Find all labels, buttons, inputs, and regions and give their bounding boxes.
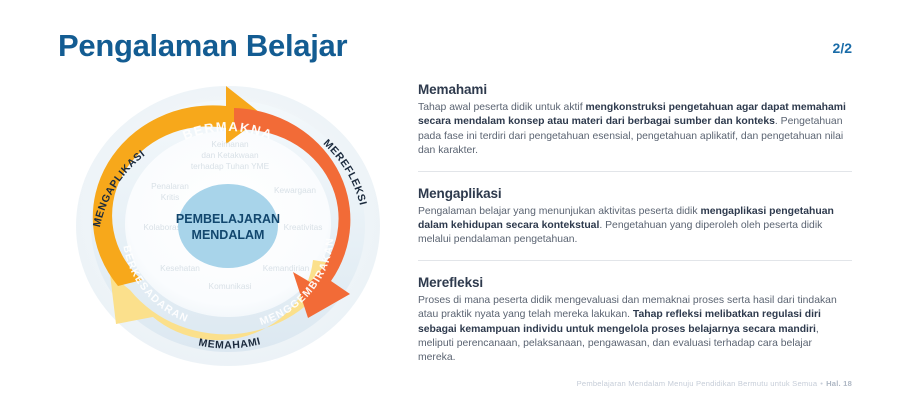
svg-text:terhadap Tuhan YME: terhadap Tuhan YME [191, 161, 270, 171]
svg-text:Komunikasi: Komunikasi [209, 281, 252, 291]
section-merefleksi: Merefleksi Proses di mana peserta didik … [418, 260, 852, 366]
svg-text:Kesehatan: Kesehatan [160, 263, 200, 273]
section-body: Proses di mana peserta didik mengevaluas… [418, 294, 852, 366]
slide-root: Pengalaman Belajar 2/2 [0, 0, 900, 400]
svg-text:Kemandirian: Kemandirian [263, 263, 310, 273]
svg-text:Keimanan: Keimanan [211, 139, 249, 149]
svg-text:Penalaran: Penalaran [151, 181, 189, 191]
section-body: Pengalaman belajar yang menunjukan aktiv… [418, 205, 852, 248]
svg-text:Kritis: Kritis [161, 192, 179, 202]
sections-column: Memahami Tahap awal peserta didik untuk … [418, 82, 852, 366]
learning-cycle-diagram: BERMAKNA BERKESADARAN MENGGEMBIRAKAN Kei… [58, 78, 398, 368]
footer-text: Pembelajaran Mendalam Menuju Pendidikan … [577, 379, 818, 388]
section-mengaplikasi: Mengaplikasi Pengalaman belajar yang men… [418, 171, 852, 248]
section-body: Tahap awal peserta didik untuk aktif men… [418, 101, 852, 159]
cycle-svg: BERMAKNA BERKESADARAN MENGGEMBIRAKAN Kei… [58, 78, 398, 368]
center-label-line1: PEMBELAJARAN [176, 212, 280, 226]
svg-text:Kreativitas: Kreativitas [284, 222, 323, 232]
section-memahami: Memahami Tahap awal peserta didik untuk … [418, 82, 852, 159]
center-ellipse [178, 184, 278, 268]
svg-text:Kewargaan: Kewargaan [274, 185, 316, 195]
svg-text:dan Ketakwaan: dan Ketakwaan [201, 150, 259, 160]
section-heading: Merefleksi [418, 275, 852, 290]
footer-page-label: Hal. 18 [826, 379, 852, 388]
section-heading: Mengaplikasi [418, 186, 852, 201]
page-indicator: 2/2 [833, 40, 852, 56]
center-label-line2: MENDALAM [192, 228, 265, 242]
footer-separator: • [817, 379, 826, 388]
page-title: Pengalaman Belajar [58, 28, 347, 64]
section-heading: Memahami [418, 82, 852, 97]
footer: Pembelajaran Mendalam Menuju Pendidikan … [577, 379, 852, 388]
